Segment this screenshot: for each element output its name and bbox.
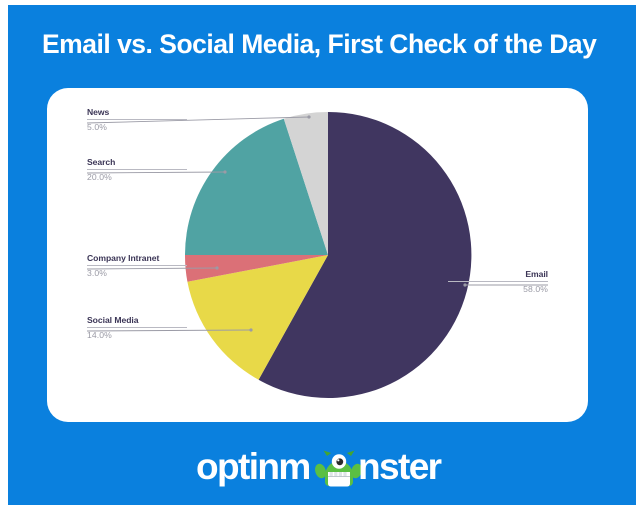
logo-text-left: optinm [196,446,310,487]
pie-label-search: Search 20.0% [87,157,187,182]
pie-label-company-intranet: Company Intranet 3.0% [87,253,187,278]
pie-label-social-media: Social Media 14.0% [87,315,187,340]
pie-label-news: News 5.0% [87,107,187,132]
pie-label-news-value: 5.0% [87,122,107,132]
pie-label-search-value: 20.0% [87,172,112,182]
page-title: Email vs. Social Media, First Check of t… [42,27,602,61]
brand-logo[interactable]: optinm [8,442,636,494]
chart-card: News 5.0% Search 20.0% Company Intranet … [47,88,588,422]
pie-label-company-intranet-value: 3.0% [87,268,107,278]
infographic-panel: Email vs. Social Media, First Check of t… [8,5,636,505]
pie-label-email-name: Email [525,269,548,279]
pie-chart: News 5.0% Search 20.0% Company Intranet … [47,88,588,422]
optinmonster-logo-svg: optinm [196,445,448,491]
green-monster-icon [313,451,363,487]
pie-label-social-media-value: 14.0% [87,330,112,340]
pie-label-news-name: News [87,107,110,117]
logo-text-right: nster [358,446,442,487]
pie-label-search-name: Search [87,157,115,167]
pie-label-company-intranet-name: Company Intranet [87,253,159,263]
pie-label-email-value: 58.0% [523,284,548,294]
pie-label-social-media-name: Social Media [87,315,139,325]
